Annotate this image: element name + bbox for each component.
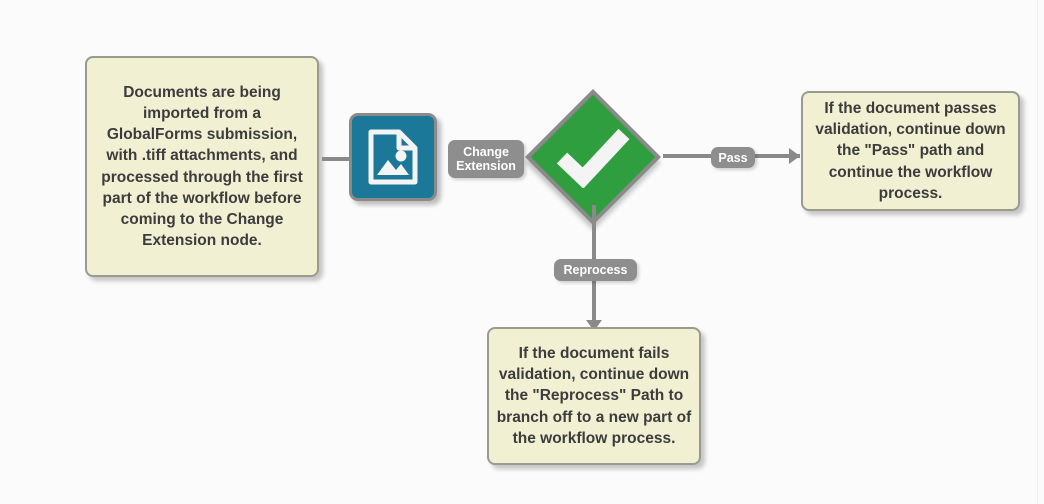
- connector-label-reprocess-text: Reprocess: [564, 263, 628, 277]
- note-pass-description: If the document passes validation, conti…: [801, 91, 1020, 211]
- note-left-text: Documents are being imported from a Glob…: [95, 82, 309, 251]
- connector-note-to-node: [322, 157, 352, 161]
- label-line-1: Change: [463, 145, 509, 159]
- image-document-icon: [368, 129, 418, 185]
- diagram-canvas: Documents are being imported from a Glob…: [0, 0, 1044, 504]
- note-left-description: Documents are being imported from a Glob…: [85, 56, 319, 277]
- panel-edge-divider: [1037, 0, 1038, 504]
- connector-label-change-extension-text: Change Extension: [456, 145, 516, 173]
- connector-label-reprocess: Reprocess: [554, 259, 637, 281]
- label-line-2: Extension: [456, 159, 516, 173]
- arrowhead-right-to-pass-note: [789, 148, 800, 164]
- connector-label-change-extension: Change Extension: [448, 140, 524, 178]
- note-pass-text: If the document passes validation, conti…: [810, 98, 1011, 203]
- note-reprocess-description: If the document fails validation, contin…: [487, 327, 701, 465]
- note-reprocess-text: If the document fails validation, contin…: [496, 343, 692, 448]
- connector-label-pass: Pass: [711, 147, 755, 168]
- connector-label-pass-text: Pass: [718, 151, 747, 165]
- node-change-extension[interactable]: [349, 113, 437, 201]
